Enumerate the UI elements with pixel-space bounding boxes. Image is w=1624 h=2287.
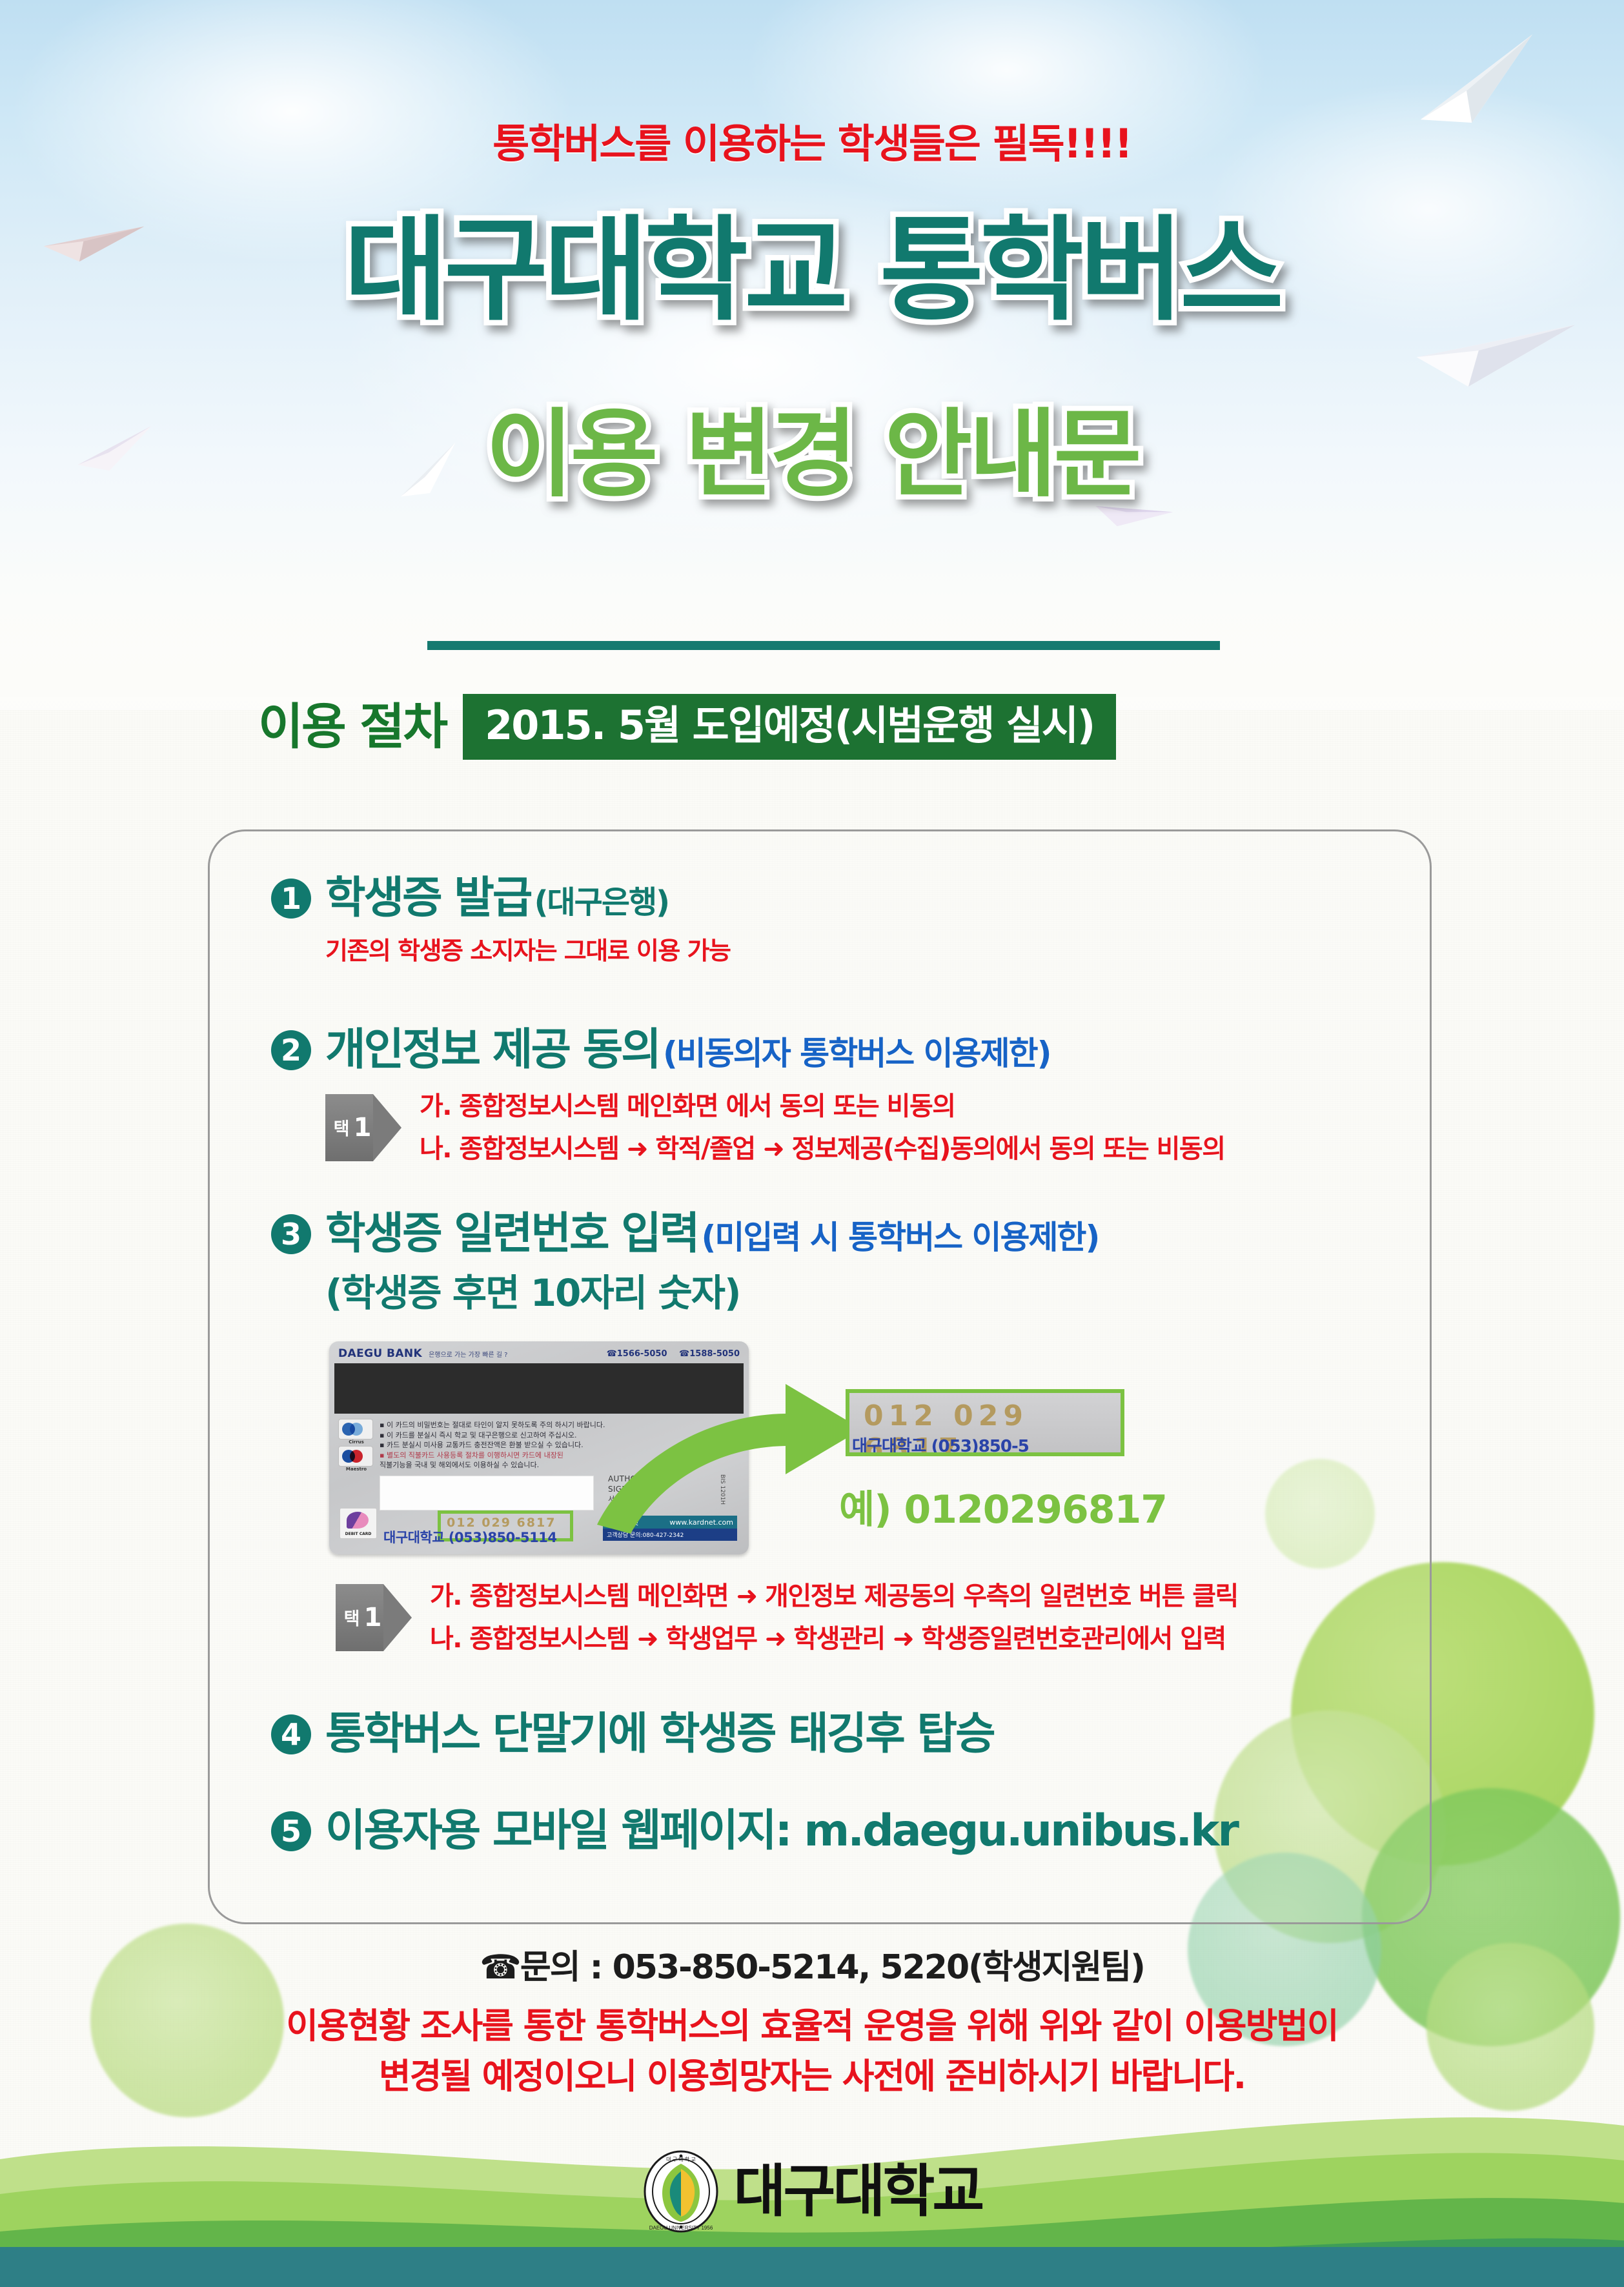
pick-tag-number-2: 1 — [354, 1113, 372, 1143]
card-slogan: 은행으로 가는 가장 빠른 길 ? — [429, 1349, 507, 1359]
pick-one-tag-2: 택 1 — [325, 1094, 373, 1161]
svg-text:대 구 대 학 교: 대 구 대 학 교 — [666, 2156, 696, 2162]
zoom-subtext: 대구대학교 (053)850-5 — [852, 1433, 1029, 1456]
card-telephones: ☎1566-5050 ☎1588-5050 — [598, 1349, 740, 1359]
step-item-4: 4 통학버스 단말기에 학생증 태깅후 탑승 — [271, 1711, 994, 1759]
step-subtext-3: (학생증 후면 10자리 숫자) — [325, 1263, 1099, 1317]
card-tel-1: ☎1566-5050 — [607, 1349, 667, 1359]
maestro-logo-icon — [338, 1446, 373, 1467]
pick-tag-label-3: 택 — [338, 1609, 363, 1626]
step-number-1: 1 — [271, 879, 311, 919]
step-number-5: 5 — [271, 1811, 311, 1851]
section-label: 이용 절차 — [258, 702, 446, 751]
debit-card-badge: DEBIT CARD — [340, 1508, 377, 1539]
notice-line-1: 이용현황 조사를 통한 통학버스의 효율적 운영을 위해 위와 같이 이용방법이 — [0, 2001, 1624, 2051]
card-network-badges: Cirrus Maestro — [338, 1419, 374, 1472]
section-chip: 2015. 5월 도입예정(시범운행 실시) — [463, 694, 1116, 760]
university-seal-icon: 대 구 대 학 교 DAEGU UNIVERSITY 1956 — [642, 2150, 720, 2233]
maestro-label: Maestro — [338, 1467, 374, 1472]
pick-one-group-2: 택 1 가. 종합정보시스템 메인화면 에서 동의 또는 비동의 나. 종합정보… — [325, 1085, 1225, 1170]
section-header: 이용 절차 2015. 5월 도입예정(시범운행 실시) — [258, 694, 1116, 760]
cirrus-logo-icon — [338, 1419, 373, 1439]
title-divider — [427, 641, 1220, 650]
step-item-5: 5 이용자용 모바일 웹페이지: m.daegu.unibus.kr — [271, 1807, 1237, 1856]
step-item-1: 1 학생증 발급 (대구은행) 기존의 학생증 소지자는 그대로 이용 가능 — [271, 875, 730, 966]
step-3-pick-group: 택 1 가. 종합정보시스템 메인화면 ➜ 개인정보 제공동의 우측의 일련번호… — [336, 1575, 1238, 1660]
step-number-2: 2 — [271, 1030, 311, 1070]
card-university-line: 대구대학교 (053)850-5114 — [383, 1527, 556, 1547]
step-title-5: 이용자용 모바일 웹페이지: m.daegu.unibus.kr — [325, 1805, 1237, 1856]
step-paren-2: (비동의자 통학버스 이용제한) — [663, 1035, 1051, 1072]
kicker-text: 통학버스를 이용하는 학생들은 필독!!!! — [0, 111, 1624, 169]
step-number-4: 4 — [271, 1714, 311, 1754]
poster-title-line1: 대구대학교 통학버스 — [0, 214, 1624, 327]
signature-box — [380, 1476, 594, 1510]
step-title-3: 학생증 일련번호 입력 — [325, 1208, 698, 1259]
university-name: 대구대학교 — [734, 2163, 982, 2220]
card-header: DAEGU BANK 은행으로 가는 가장 빠른 길 ? ☎1566-5050 … — [329, 1345, 749, 1362]
debit-card-label: DEBIT CARD — [340, 1532, 376, 1536]
step-title-4: 통학버스 단말기에 학생증 태깅후 탑승 — [325, 1709, 994, 1760]
pick-tag-label-2: 택 — [327, 1119, 352, 1136]
step-title-1: 학생증 발급 — [325, 873, 531, 924]
step-subtext-1: 기존의 학생증 소지자는 그대로 이용 가능 — [325, 931, 730, 966]
svg-text:DAEGU UNIVERSITY 1956: DAEGU UNIVERSITY 1956 — [649, 2225, 713, 2231]
serial-zoom-callout: 012 029 6817 대구대학교 (053)850-5 — [846, 1389, 1124, 1456]
step-paren-1: (대구은행) — [534, 884, 669, 920]
pick-option-3a: 가. 종합정보시스템 메인화면 ➜ 개인정보 제공동의 우측의 일련번호 버튼 … — [430, 1575, 1238, 1618]
notice-block: 이용현황 조사를 통한 통학버스의 효율적 운영을 위해 위와 같이 이용방법이… — [0, 2001, 1624, 2102]
university-brand: 대 구 대 학 교 DAEGU UNIVERSITY 1956 대구대학교 — [0, 2150, 1624, 2233]
step-item-3: 3 학생증 일련번호 입력 (미입력 시 통학버스 이용제한) (학생증 후면 … — [271, 1210, 1099, 1317]
poster-title-line2: 이용 변경 안내문 — [0, 407, 1624, 502]
debit-mark-icon — [347, 1512, 369, 1529]
cirrus-label: Cirrus — [338, 1439, 374, 1445]
poster-root: 통학버스를 이용하는 학생들은 필독!!!! 대구대학교 통학버스 이용 변경 … — [0, 0, 1624, 2287]
pick-tag-number-3: 1 — [364, 1603, 382, 1632]
pick-option-2b: 나. 종합정보시스템 ➜ 학적/졸업 ➜ 정보제공(수집)동의에서 동의 또는 … — [420, 1128, 1225, 1170]
serial-example-text: 예) 0120296817 — [839, 1478, 1167, 1534]
pick-one-tag-3: 택 1 — [336, 1584, 383, 1651]
pick-one-group-3: 택 1 가. 종합정보시스템 메인화면 ➜ 개인정보 제공동의 우측의 일련번호… — [336, 1575, 1238, 1660]
step-item-2: 2 개인정보 제공 동의 (비동의자 통학버스 이용제한) 택 1 가. 종합정… — [271, 1026, 1225, 1170]
pick-option-2a: 가. 종합정보시스템 메인화면 에서 동의 또는 비동의 — [420, 1085, 1225, 1128]
step-paren-3: (미입력 시 통학버스 이용제한) — [701, 1219, 1099, 1256]
pick-option-3b: 나. 종합정보시스템 ➜ 학생업무 ➜ 학생관리 ➜ 학생증일련번호관리에서 입… — [430, 1618, 1238, 1660]
card-bank-name: DAEGU BANK — [338, 1347, 422, 1360]
contact-line: ☎문의 : 053-850-5214, 5220(학생지원팀) — [0, 1940, 1624, 1988]
notice-line-2: 변경될 예정이오니 이용희망자는 사전에 준비하시기 바랍니다. — [0, 2051, 1624, 2102]
step-number-3: 3 — [271, 1214, 311, 1254]
step-title-2: 개인정보 제공 동의 — [325, 1024, 660, 1075]
card-tel-2: ☎1588-5050 — [679, 1349, 740, 1359]
